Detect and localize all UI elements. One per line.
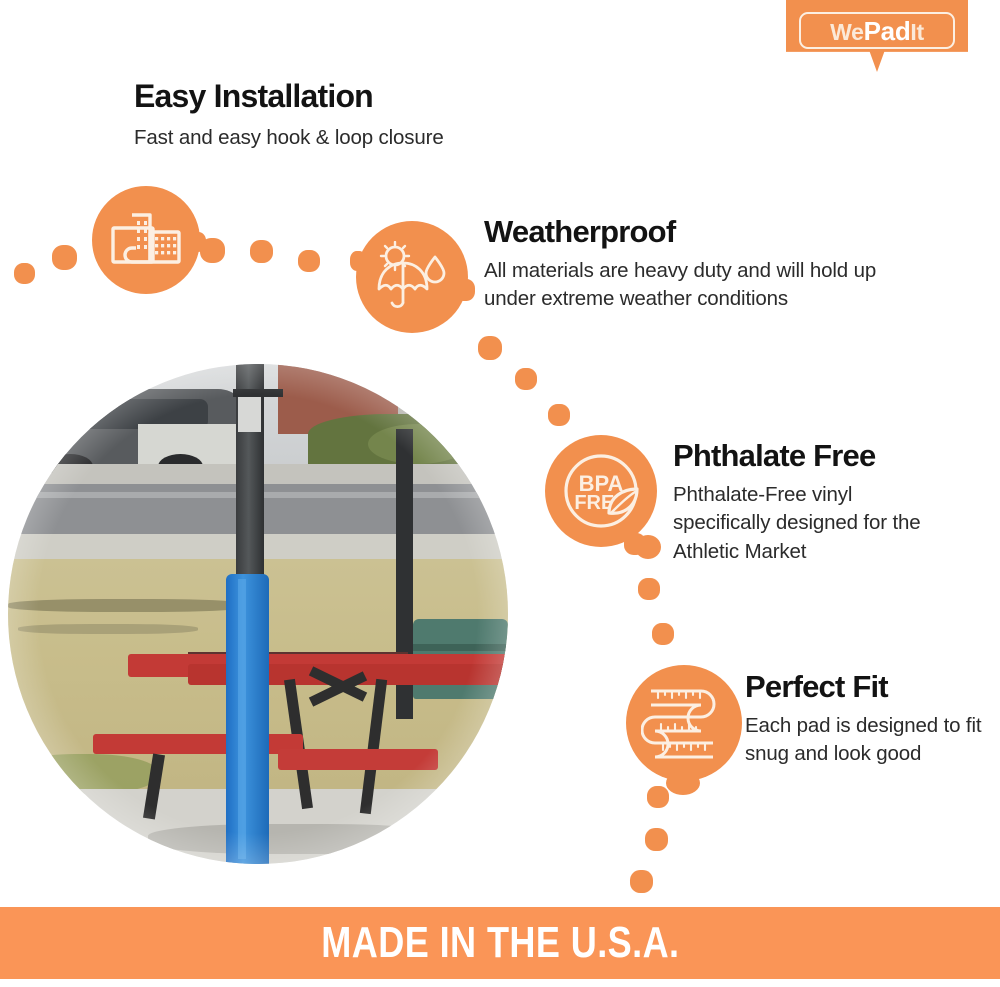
logo-wordmark: WePadIt <box>830 18 924 44</box>
photo-building-light <box>388 364 508 419</box>
logo-part-pad: Pad <box>864 16 911 46</box>
connector-dot <box>298 250 320 272</box>
feature-title-perfect-fit: Perfect Fit <box>745 671 888 704</box>
feature-description-phthalate-free: Phthalate-Free vinyl specifically design… <box>673 481 943 566</box>
icon-blob-nub <box>455 279 475 301</box>
connector-dot <box>52 245 77 270</box>
connector-dot <box>647 786 669 808</box>
building-icon <box>92 186 200 294</box>
made-in-usa-banner: MADE IN THE U.S.A. <box>0 907 1000 979</box>
logo-part-we: We <box>830 19 864 45</box>
connector-dot <box>652 623 674 645</box>
icon-blob-nub <box>666 771 700 795</box>
feature-title-weatherproof: Weatherproof <box>484 216 675 249</box>
connector-dot <box>478 336 502 360</box>
feature-description-perfect-fit: Each pad is designed to fit snug and loo… <box>745 712 985 769</box>
photo-grass-patch <box>18 624 198 634</box>
measuring-tape-icon <box>626 665 742 781</box>
photo-pole-fixture <box>238 397 261 432</box>
logo-outline-box: WePadIt <box>799 12 955 49</box>
icon-blob-nub <box>188 232 206 252</box>
connector-dot <box>548 404 570 426</box>
feature-description-easy-installation: Fast and easy hook & loop closure <box>134 124 554 152</box>
bpa-free-leaf-icon: BPA FREE <box>545 435 657 547</box>
product-photo-pole-pad <box>8 364 508 864</box>
photo-barrel-rim <box>413 644 508 651</box>
photo-bench <box>278 749 438 770</box>
infographic-page: WePadIt Easy Installation Fast and easy … <box>0 0 1000 987</box>
connector-dot <box>515 368 537 390</box>
icon-blob-nub <box>635 535 661 559</box>
feature-description-weatherproof: All materials are heavy duty and will ho… <box>484 257 914 314</box>
feature-title-phthalate-free: Phthalate Free <box>673 440 875 473</box>
photo-hedge-highlight <box>368 424 468 464</box>
connector-dot <box>630 870 653 893</box>
photo-grass-green <box>8 754 158 794</box>
photo-pad-highlight <box>238 579 246 859</box>
connector-dot <box>14 263 35 284</box>
photo-table-shadow <box>148 824 448 854</box>
logo-part-it: It <box>910 19 923 45</box>
photo-bench <box>93 734 303 754</box>
made-in-usa-text: MADE IN THE U.S.A. <box>321 918 679 968</box>
photo-blue-pole-pad <box>226 574 269 864</box>
connector-dot <box>638 578 660 600</box>
brand-logo: WePadIt <box>786 0 968 72</box>
connector-dot <box>645 828 668 851</box>
sun-umbrella-raindrop-icon <box>356 221 468 333</box>
feature-title-easy-installation: Easy Installation <box>134 80 373 114</box>
connector-dot <box>250 240 273 263</box>
icon-blob-nub <box>350 251 366 271</box>
photo-pole-arm <box>233 389 283 397</box>
photo-grass-patch <box>8 599 248 612</box>
